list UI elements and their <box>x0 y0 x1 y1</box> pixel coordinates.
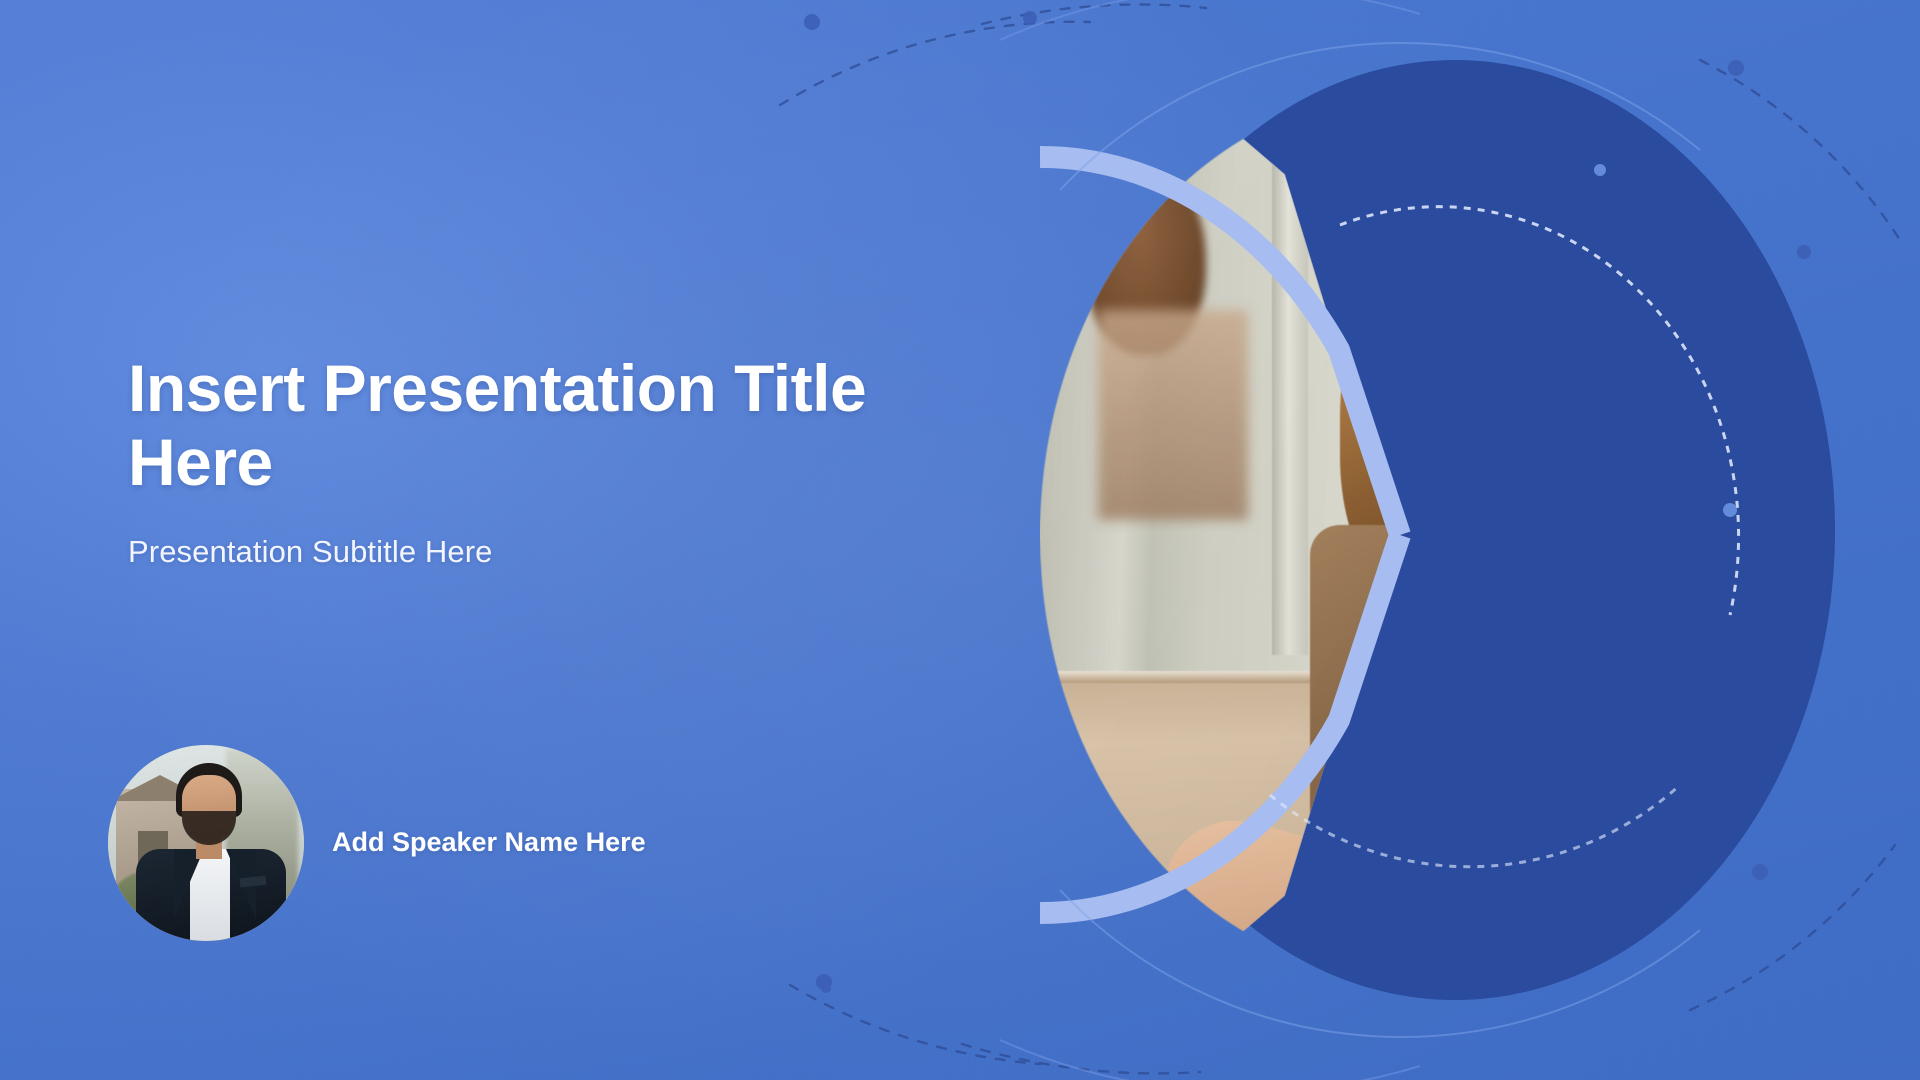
avatar-lapel-left <box>174 849 204 919</box>
speaker-group: Add Speaker Name Here <box>108 745 646 941</box>
page-title[interactable]: Insert Presentation Title Here <box>128 352 918 500</box>
avatar[interactable] <box>108 745 304 941</box>
speaker-name-label[interactable]: Add Speaker Name Here <box>332 826 646 859</box>
title-group: Insert Presentation Title Here Presentat… <box>128 352 948 570</box>
hero-artwork <box>1040 40 1890 1040</box>
page-subtitle[interactable]: Presentation Subtitle Here <box>128 534 948 570</box>
presentation-slide: Insert Presentation Title Here Presentat… <box>0 0 1920 1080</box>
